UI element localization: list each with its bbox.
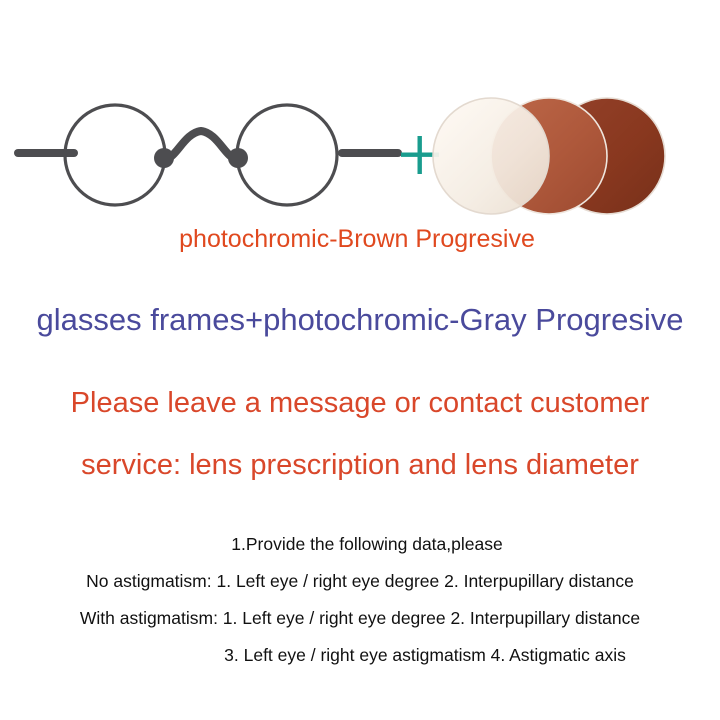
photochromic-lens-discs-icon: [424, 88, 680, 228]
instructions-heading: 1.Provide the following data,please: [0, 526, 720, 563]
contact-notice: Please leave a message or contact custom…: [0, 372, 720, 496]
notice-line-1: Please leave a message or contact custom…: [0, 372, 720, 434]
left-temple-arm: [14, 149, 78, 157]
lens-disc-light: [433, 98, 549, 214]
right-hinge-dot: [228, 148, 248, 168]
notice-line-2: service: lens prescription and lens diam…: [0, 434, 720, 496]
lens-discs-svg: [424, 88, 680, 228]
brown-lens-caption: photochromic-Brown Progresive: [0, 222, 720, 256]
eyeglasses-frame-svg: [8, 85, 408, 230]
instructions-row-astigmatism-axis: 3. Left eye / right eye astigmatism 4. A…: [0, 637, 720, 674]
product-description-image: photochromic-Brown Progresive glasses fr…: [0, 0, 720, 720]
right-temple-arm: [338, 149, 402, 157]
plus-vertical-bar: [418, 136, 422, 174]
instructions-row-no-astigmatism: No astigmatism: 1. Left eye / right eye …: [0, 563, 720, 600]
left-lens-rim: [65, 105, 165, 205]
instructions-row-with-astigmatism: With astigmatism: 1. Left eye / right ey…: [0, 600, 720, 637]
page-title: glasses frames+photochromic-Gray Progres…: [0, 300, 720, 340]
instructions-block: 1.Provide the following data,please No a…: [0, 526, 720, 674]
left-hinge-dot: [154, 148, 174, 168]
right-lens-rim: [237, 105, 337, 205]
eyeglasses-frame-icon: [8, 85, 408, 230]
hero-illustration: photochromic-Brown Progresive: [0, 0, 720, 275]
nose-bridge: [165, 131, 237, 159]
